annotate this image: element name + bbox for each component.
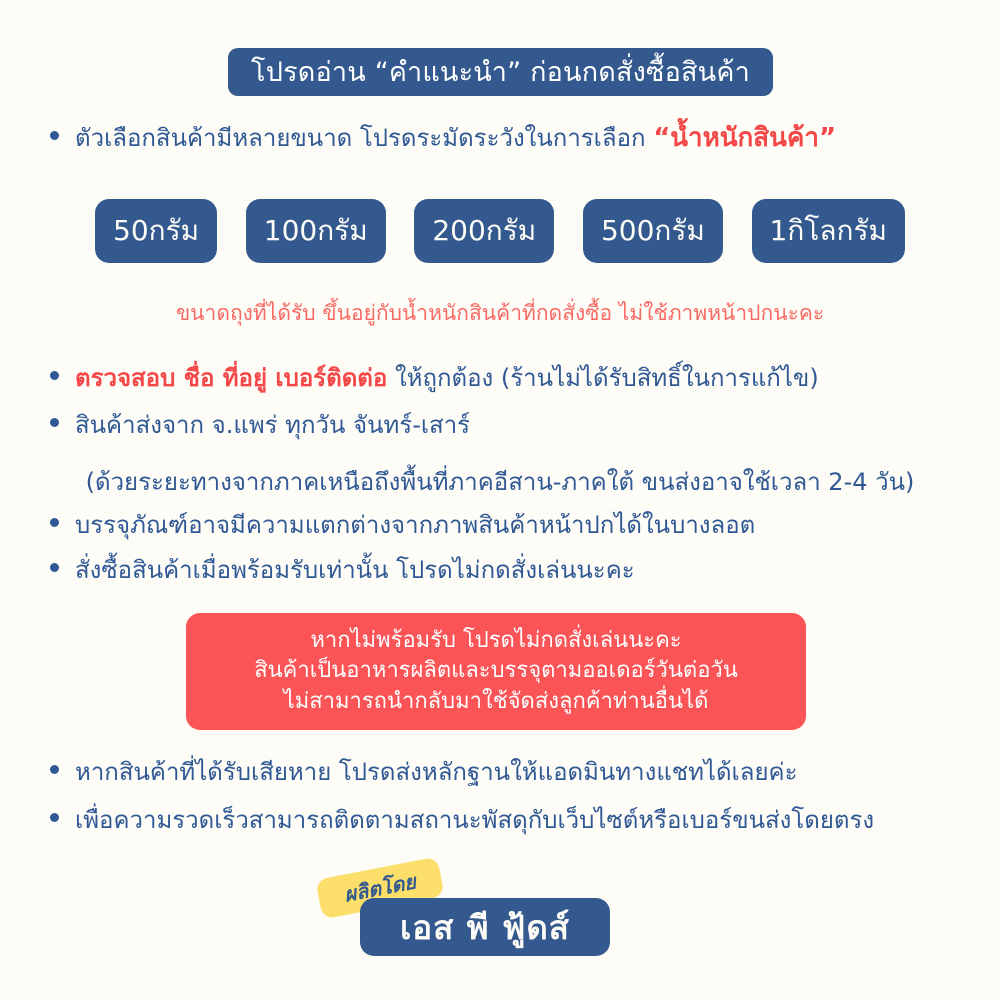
weight-chip-200g[interactable]: 200กรัม xyxy=(414,199,554,263)
bullet-verify-info: ตรวจสอบ ชื่อ ที่อยู่ เบอร์ติดต่อ ให้ถูกต… xyxy=(50,363,819,393)
bullet-dot-icon xyxy=(50,371,59,380)
shipping-text: สินค้าส่งจาก จ.แพร่ ทุกวัน จันทร์-เสาร์ xyxy=(75,410,470,440)
damage-text: หากสินค้าที่ได้รับเสียหาย โปรดส่งหลักฐาน… xyxy=(75,757,797,787)
bullet-dot-icon xyxy=(50,563,59,572)
bullet-packaging-variation: บรรจุภัณฑ์อาจมีความแตกต่างจากภาพสินค้าหน… xyxy=(50,510,755,540)
bag-size-note: ขนาดถุงที่ได้รับ ขึ้นอยู่กับน้ำหนักสินค้… xyxy=(0,297,1000,330)
bullet-size-options: ตัวเลือกสินค้ามีหลายขนาด โปรดระมัดระวังใ… xyxy=(50,122,836,155)
weight-chip-100g[interactable]: 100กรัม xyxy=(246,199,386,263)
warning-box: หากไม่พร้อมรับ โปรดไม่กดสั่งเล่นนะคะ สิน… xyxy=(186,613,806,730)
brand-footer: ผลิตโดย เอส พี ฟู้ดส์ xyxy=(0,862,1000,982)
weight-chip-500g[interactable]: 500กรัม xyxy=(583,199,723,263)
bullet-damage-claim: หากสินค้าที่ได้รับเสียหาย โปรดส่งหลักฐาน… xyxy=(50,757,797,787)
bullet-tracking: เพื่อความรวดเร็วสามารถติดตามสถานะพัสดุกั… xyxy=(50,805,874,835)
verify-rest: ให้ถูกต้อง (ร้านไม่ได้รับสิทธิ์ในการแก้ไ… xyxy=(395,364,819,392)
weight-options-group: 50กรัม 100กรัม 200กรัม 500กรัม 1กิโลกรัม xyxy=(95,199,905,263)
warning-line-2: สินค้าเป็นอาหารผลิตและบรรจุตามออเดอร์วัน… xyxy=(254,656,738,686)
bullet-dot-icon xyxy=(50,131,59,140)
bullet-order-when-ready: สั่งซื้อสินค้าเมื่อพร้อมรับเท่านั้น โปรด… xyxy=(50,555,635,585)
packaging-text: บรรจุภัณฑ์อาจมีความแตกต่างจากภาพสินค้าหน… xyxy=(75,510,755,540)
weight-chip-50g[interactable]: 50กรัม xyxy=(95,199,217,263)
page-title: โปรดอ่าน “คำแนะนำ” ก่อนกดสั่งซื้อสินค้า xyxy=(251,59,750,86)
shipping-duration-note: (ด้วยระยะทางจากภาคเหนือถึงพื้นที่ภาคอีสา… xyxy=(0,462,1000,501)
warning-line-3: ไม่สามารถนำกลับมาใช้จัดส่งลูกค้าท่านอื่น… xyxy=(284,687,709,717)
brand-name-plate: เอส พี ฟู้ดส์ xyxy=(360,898,610,956)
bullet-dot-icon xyxy=(50,418,59,427)
bullet-dot-icon xyxy=(50,813,59,822)
brand-name: เอส พี ฟู้ดส์ xyxy=(400,911,570,944)
verify-emphasis: ตรวจสอบ ชื่อ ที่อยู่ เบอร์ติดต่อ xyxy=(75,364,387,392)
size-notice-text: ตัวเลือกสินค้ามีหลายขนาด โปรดระมัดระวังใ… xyxy=(75,124,646,152)
size-notice-emphasis: “น้ำหนักสินค้า” xyxy=(653,123,836,153)
bullet-dot-icon xyxy=(50,765,59,774)
bullet-dot-icon xyxy=(50,518,59,527)
bullet-shipping-origin: สินค้าส่งจาก จ.แพร่ ทุกวัน จันทร์-เสาร์ xyxy=(50,410,470,440)
notice-page: โปรดอ่าน “คำแนะนำ” ก่อนกดสั่งซื้อสินค้า … xyxy=(0,0,1000,1000)
weight-chip-1kg[interactable]: 1กิโลกรัม xyxy=(752,199,905,263)
warning-line-1: หากไม่พร้อมรับ โปรดไม่กดสั่งเล่นนะคะ xyxy=(310,626,681,656)
page-title-pill: โปรดอ่าน “คำแนะนำ” ก่อนกดสั่งซื้อสินค้า xyxy=(228,48,773,96)
ready-only-text: สั่งซื้อสินค้าเมื่อพร้อมรับเท่านั้น โปรด… xyxy=(75,555,635,585)
tracking-text: เพื่อความรวดเร็วสามารถติดตามสถานะพัสดุกั… xyxy=(75,805,874,835)
